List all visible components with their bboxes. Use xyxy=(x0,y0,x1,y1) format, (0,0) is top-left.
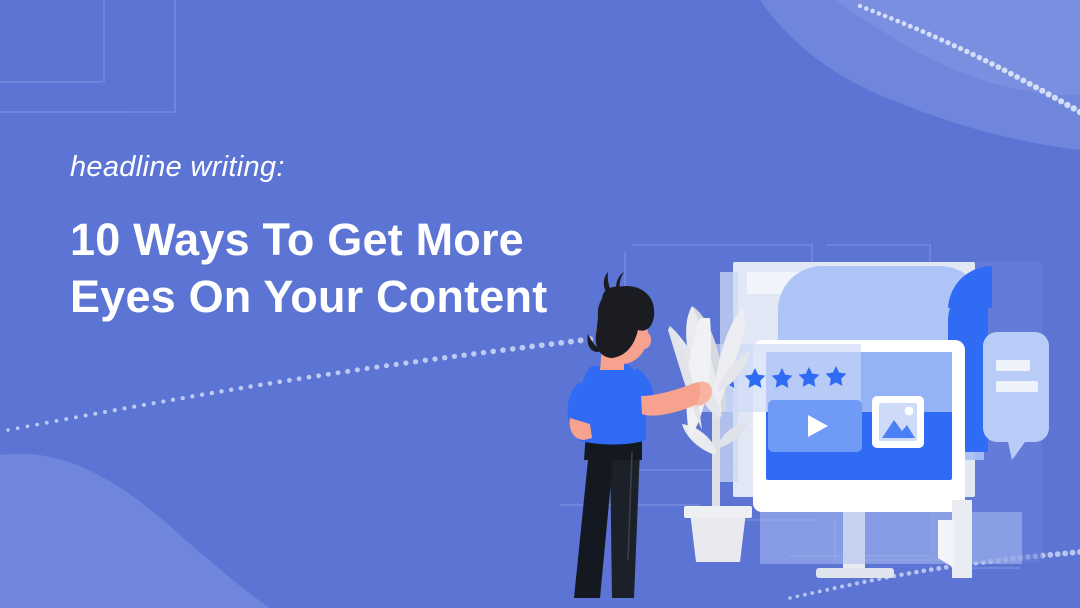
plant-leaf-4 xyxy=(682,424,717,455)
headline-line-2: Eyes On Your Content xyxy=(70,268,630,326)
person-front-leg xyxy=(574,450,614,598)
person-back-leg xyxy=(610,450,640,598)
headline-text-block: headline writing: 10 Ways To Get More Ey… xyxy=(70,150,630,326)
page-title: 10 Ways To Get More Eyes On Your Content xyxy=(70,211,630,326)
speech-bubble-line-1 xyxy=(996,360,1030,371)
monitor-chin xyxy=(753,480,965,512)
desk-surface xyxy=(760,512,1022,564)
desk-leg-right xyxy=(952,500,972,578)
image-sun-icon xyxy=(905,407,914,416)
person-ear xyxy=(637,331,651,349)
eyebrow-text: headline writing: xyxy=(70,150,630,185)
plant-stem-body xyxy=(712,400,720,522)
speech-bubble-line-2 xyxy=(996,381,1038,392)
speech-bubble-card xyxy=(983,332,1049,460)
headline-line-1: 10 Ways To Get More xyxy=(70,211,630,269)
plant-pot xyxy=(690,512,746,562)
monitor-stand-base xyxy=(816,568,894,578)
plant-pot-rim xyxy=(684,506,752,518)
banner-root: headline writing: 10 Ways To Get More Ey… xyxy=(0,0,1080,608)
